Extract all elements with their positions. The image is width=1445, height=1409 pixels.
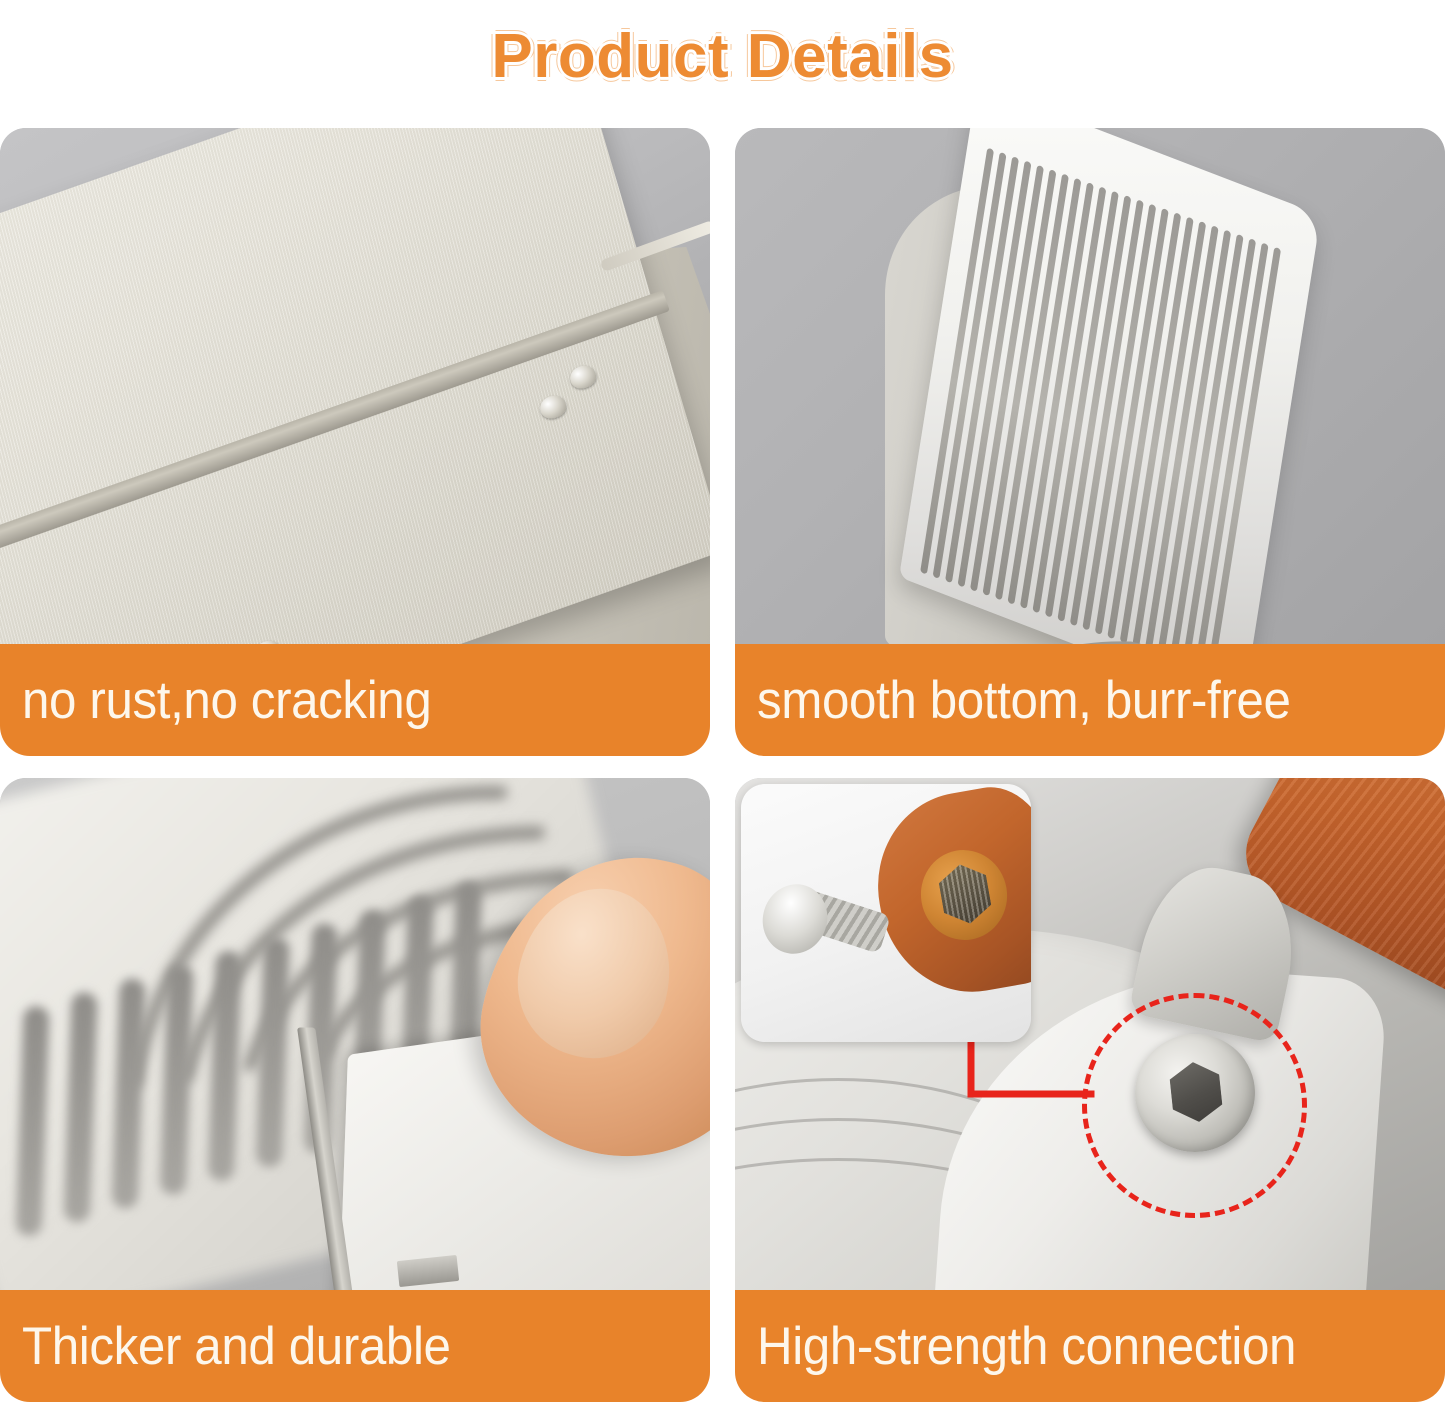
panel-no-rust: no rust,no cracking [0,128,710,756]
page-title: Product Details [491,21,953,92]
panel-no-rust-caption-bar: no rust,no cracking [0,644,710,756]
screw-head-icon [754,876,836,962]
panel-thicker-durable-photo [0,778,710,1290]
product-detail-grid: no rust,no cracking [0,112,1445,1409]
page-header: Product Details [0,0,1445,112]
blade-slot [16,1006,50,1237]
panel-no-rust-caption-text: no rust,no cracking [22,670,431,731]
panel-high-strength-photo [735,778,1445,1290]
blade-slot [112,978,146,1209]
panel-no-rust-photo [0,128,710,644]
blade-slot [208,951,242,1182]
panel-thicker-durable-caption-text: Thicker and durable [22,1316,451,1377]
panel-smooth-bottom: smooth bottom, burr-free [735,128,1445,756]
blade-slot [256,937,290,1168]
callout-inset-panel [741,784,1031,1042]
panel-smooth-bottom-caption-text: smooth bottom, burr-free [757,670,1290,731]
blade-slot [160,964,194,1195]
plate-edge-icon [0,128,710,644]
dashed-circle-highlight-icon [1082,993,1307,1218]
panel-smooth-bottom-photo [735,128,1445,644]
blade-slot [64,992,98,1223]
callout-pointer-icon [965,1034,1095,1102]
panel-high-strength-caption-bar: High-strength connection [735,1290,1445,1402]
panel-thicker-durable: Thicker and durable [0,778,710,1402]
panel-thicker-durable-caption-bar: Thicker and durable [0,1290,710,1402]
panel-high-strength: High-strength connection [735,778,1445,1402]
panel-high-strength-caption-text: High-strength connection [757,1316,1296,1377]
panel-smooth-bottom-caption-bar: smooth bottom, burr-free [735,644,1445,756]
